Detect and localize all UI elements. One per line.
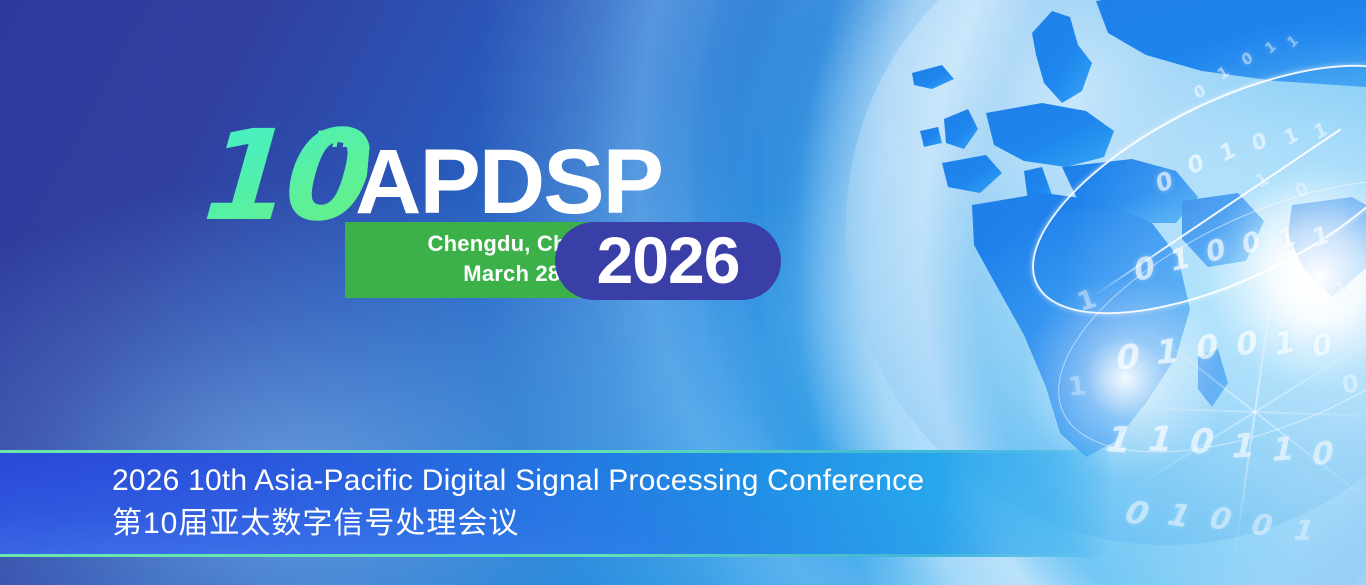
year-label: 2026 xyxy=(597,227,740,293)
conference-banner: 0 1 0 1 1 0 0 1 0 1 1 0 1 0 0 1 1 0 1 0 … xyxy=(0,0,1366,585)
edition-ordinal-suffix: TH xyxy=(317,128,350,153)
conference-title-chinese: 第10届亚太数字信号处理会议 xyxy=(112,504,924,543)
title-strip-text: 2026 10th Asia-Pacific Digital Signal Pr… xyxy=(112,462,924,543)
conference-logo-lockup: 10 TH APDSP Chengdu, China March 28-30, … xyxy=(205,118,805,313)
year-pill: 2026 xyxy=(555,222,781,300)
title-strip-rule-top xyxy=(0,450,1100,453)
conference-title-english: 2026 10th Asia-Pacific Digital Signal Pr… xyxy=(112,462,924,500)
title-strip-rule-bottom xyxy=(0,554,1100,557)
conference-acronym: APDSP xyxy=(355,136,662,228)
